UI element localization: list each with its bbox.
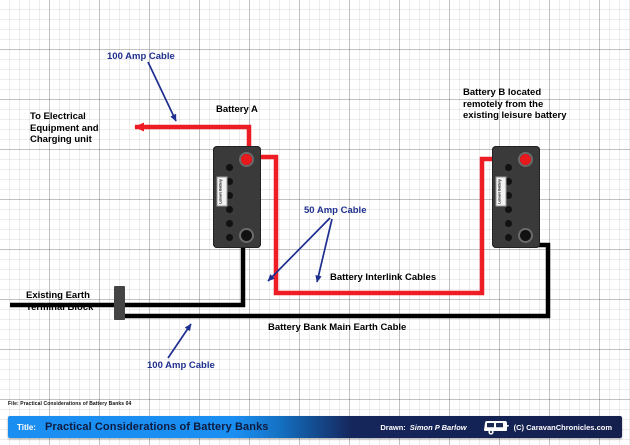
vent-cap bbox=[505, 164, 512, 171]
leader-arrow-100a-top bbox=[148, 62, 176, 121]
file-note: File: Practical Considerations of Batter… bbox=[8, 401, 131, 407]
earth-terminal-block[interactable] bbox=[114, 286, 125, 320]
title-bar: Title: Practical Considerations of Batte… bbox=[8, 416, 622, 438]
title-bar-right-group: Drawn: Simon P Barlow (C) CaravanChronic… bbox=[380, 420, 612, 435]
label-battery-b-note: Battery B located remotely from the exis… bbox=[463, 87, 566, 122]
label-100-amp-cable-bottom: 100 Amp Cable bbox=[147, 360, 215, 372]
copyright-text: (C) CaravanChronicles.com bbox=[514, 423, 612, 432]
vent-cap bbox=[505, 220, 512, 227]
vent-cap bbox=[226, 164, 233, 171]
battery-b-positive-post bbox=[520, 154, 531, 165]
document-title: Practical Considerations of Battery Bank… bbox=[45, 421, 269, 433]
label-battery-interlink-cables: Battery Interlink Cables bbox=[330, 272, 436, 284]
caravan-icon bbox=[483, 420, 509, 435]
diagram-canvas: Leisure Battery Leisure Battery 100 Amp … bbox=[0, 0, 630, 445]
battery-a-negative-terminal[interactable] bbox=[239, 228, 254, 243]
battery-b[interactable]: Leisure Battery bbox=[492, 146, 540, 248]
vent-cap bbox=[226, 234, 233, 241]
vent-cap bbox=[505, 206, 512, 213]
vent-cap bbox=[226, 206, 233, 213]
label-100-amp-cable-top: 100 Amp Cable bbox=[107, 51, 175, 63]
vent-cap bbox=[226, 220, 233, 227]
label-50-amp-cable: 50 Amp Cable bbox=[304, 205, 366, 217]
drawn-by-name: Simon P Barlow bbox=[410, 423, 467, 432]
leader-arrow-100a-bottom bbox=[168, 324, 191, 358]
label-to-electrical-equipment: To Electrical Equipment and Charging uni… bbox=[30, 111, 99, 146]
label-battery-bank-main-earth-cable: Battery Bank Main Earth Cable bbox=[268, 322, 406, 334]
label-existing-earth-terminal-block: Existing Earth Terminal Block bbox=[26, 290, 93, 313]
vent-cap bbox=[505, 234, 512, 241]
battery-b-product-label: Leisure Battery bbox=[496, 177, 507, 207]
battery-a-product-label: Leisure Battery bbox=[217, 177, 228, 207]
battery-a[interactable]: Leisure Battery bbox=[213, 146, 261, 248]
drawn-key-label: Drawn: bbox=[380, 423, 405, 432]
battery-a-positive-post bbox=[241, 154, 252, 165]
label-battery-a: Battery A bbox=[216, 104, 258, 116]
title-key-label: Title: bbox=[17, 423, 36, 432]
battery-b-negative-terminal[interactable] bbox=[518, 228, 533, 243]
